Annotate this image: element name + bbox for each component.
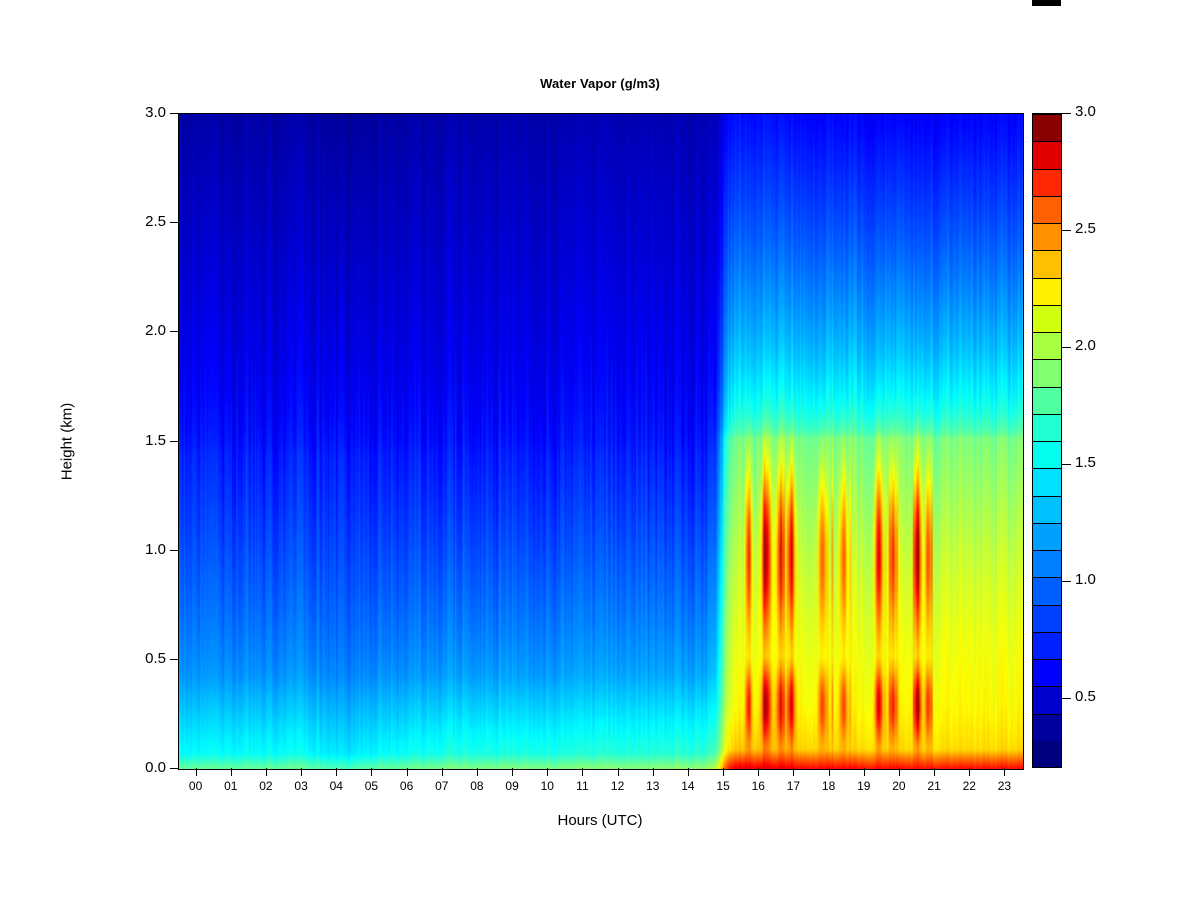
x-tick-mark bbox=[899, 768, 900, 776]
page-title: Water Vapor (g/m3) bbox=[178, 76, 1022, 91]
x-tick-mark bbox=[196, 768, 197, 776]
x-tick-mark bbox=[407, 768, 408, 776]
colorbar-tick-label: 1.5 bbox=[1075, 454, 1096, 471]
y-tick-mark bbox=[170, 550, 178, 551]
x-tick-label: 02 bbox=[252, 779, 280, 793]
colorbar-tick-mark bbox=[1062, 230, 1071, 231]
x-tick-label: 19 bbox=[850, 779, 878, 793]
x-tick-mark bbox=[969, 768, 970, 776]
x-tick-label: 11 bbox=[568, 779, 596, 793]
x-tick-label: 05 bbox=[357, 779, 385, 793]
heatmap-canvas bbox=[179, 114, 1023, 769]
x-tick-mark bbox=[758, 768, 759, 776]
x-axis-ticks: 0001020304050607080910111213141516171819… bbox=[178, 768, 1022, 808]
colorbar-segment bbox=[1033, 741, 1061, 767]
x-tick-mark bbox=[231, 768, 232, 776]
colorbar-segment bbox=[1033, 496, 1061, 523]
clipped-colorbar-artifact bbox=[1032, 0, 1061, 6]
y-tick-label: 3.0 bbox=[145, 106, 166, 120]
x-tick-mark bbox=[266, 768, 267, 776]
colorbar-segment bbox=[1033, 196, 1061, 223]
colorbar-segment bbox=[1033, 523, 1061, 550]
x-tick-mark bbox=[864, 768, 865, 776]
heatmap-plot-area bbox=[178, 113, 1024, 770]
y-tick-mark bbox=[170, 222, 178, 223]
x-tick-label: 01 bbox=[217, 779, 245, 793]
x-tick-mark bbox=[336, 768, 337, 776]
y-axis-ticks: 0.00.51.01.52.02.53.0 bbox=[120, 113, 178, 768]
x-tick-mark bbox=[512, 768, 513, 776]
y-tick-label: 1.5 bbox=[145, 434, 166, 448]
x-tick-mark bbox=[829, 768, 830, 776]
colorbar-segment bbox=[1033, 605, 1061, 632]
colorbar-segment bbox=[1033, 250, 1061, 277]
colorbar-tick-mark bbox=[1062, 464, 1071, 465]
x-tick-label: 16 bbox=[744, 779, 772, 793]
x-tick-label: 23 bbox=[990, 779, 1018, 793]
colorbar-segment bbox=[1033, 659, 1061, 686]
x-tick-label: 07 bbox=[428, 779, 456, 793]
x-tick-mark bbox=[934, 768, 935, 776]
y-tick-mark bbox=[170, 659, 178, 660]
y-tick-mark bbox=[170, 113, 178, 114]
colorbar-segment bbox=[1033, 169, 1061, 196]
x-tick-label: 21 bbox=[920, 779, 948, 793]
x-tick-label: 17 bbox=[779, 779, 807, 793]
colorbar-segment bbox=[1033, 332, 1061, 359]
x-tick-label: 20 bbox=[885, 779, 913, 793]
x-tick-mark bbox=[582, 768, 583, 776]
x-tick-label: 10 bbox=[533, 779, 561, 793]
y-tick-label: 0.5 bbox=[145, 652, 166, 666]
y-tick-label: 1.0 bbox=[145, 543, 166, 557]
colorbar-segment bbox=[1033, 550, 1061, 577]
y-tick-mark bbox=[170, 331, 178, 332]
colorbar-segment bbox=[1033, 278, 1061, 305]
colorbar-gradient bbox=[1032, 113, 1062, 768]
colorbar: 0.51.01.52.02.53.0 bbox=[1032, 113, 1062, 768]
colorbar-segment bbox=[1033, 441, 1061, 468]
colorbar-segment bbox=[1033, 414, 1061, 441]
colorbar-tick-label: 2.0 bbox=[1075, 337, 1096, 354]
colorbar-segment bbox=[1033, 223, 1061, 250]
y-tick-mark bbox=[170, 441, 178, 442]
x-tick-label: 22 bbox=[955, 779, 983, 793]
colorbar-segment bbox=[1033, 686, 1061, 713]
x-tick-label: 04 bbox=[322, 779, 350, 793]
y-tick-label: 0.0 bbox=[145, 761, 166, 775]
x-tick-mark bbox=[1004, 768, 1005, 776]
x-tick-mark bbox=[301, 768, 302, 776]
colorbar-ticks: 0.51.01.52.02.53.0 bbox=[1062, 113, 1132, 768]
colorbar-tick-label: 2.5 bbox=[1075, 220, 1096, 237]
x-tick-label: 08 bbox=[463, 779, 491, 793]
x-tick-mark bbox=[547, 768, 548, 776]
y-tick-mark bbox=[170, 768, 178, 769]
y-tick-label: 2.5 bbox=[145, 215, 166, 229]
x-tick-mark bbox=[653, 768, 654, 776]
x-tick-label: 06 bbox=[393, 779, 421, 793]
colorbar-tick-mark bbox=[1062, 581, 1071, 582]
x-tick-label: 12 bbox=[604, 779, 632, 793]
x-axis-label: Hours (UTC) bbox=[178, 812, 1022, 829]
y-axis-label: Height (km) bbox=[59, 362, 76, 522]
colorbar-segment bbox=[1033, 359, 1061, 386]
colorbar-tick-label: 0.5 bbox=[1075, 688, 1096, 705]
colorbar-segment bbox=[1033, 632, 1061, 659]
x-tick-label: 15 bbox=[709, 779, 737, 793]
x-tick-mark bbox=[723, 768, 724, 776]
colorbar-segment bbox=[1033, 468, 1061, 495]
x-tick-mark bbox=[618, 768, 619, 776]
x-tick-label: 14 bbox=[674, 779, 702, 793]
colorbar-segment bbox=[1033, 714, 1061, 741]
x-tick-mark bbox=[442, 768, 443, 776]
x-tick-mark bbox=[793, 768, 794, 776]
colorbar-segment bbox=[1033, 114, 1061, 141]
colorbar-tick-label: 3.0 bbox=[1075, 103, 1096, 120]
x-tick-label: 09 bbox=[498, 779, 526, 793]
colorbar-segment bbox=[1033, 577, 1061, 604]
x-tick-mark bbox=[477, 768, 478, 776]
x-tick-label: 03 bbox=[287, 779, 315, 793]
colorbar-tick-mark bbox=[1062, 347, 1071, 348]
colorbar-segment bbox=[1033, 141, 1061, 168]
x-tick-label: 13 bbox=[639, 779, 667, 793]
x-tick-mark bbox=[688, 768, 689, 776]
water-vapor-figure: Water Vapor (g/m3) 0.00.51.01.52.02.53.0… bbox=[0, 0, 1200, 900]
colorbar-tick-mark bbox=[1062, 113, 1071, 114]
x-tick-label: 18 bbox=[815, 779, 843, 793]
y-tick-label: 2.0 bbox=[145, 324, 166, 338]
colorbar-tick-mark bbox=[1062, 698, 1071, 699]
x-tick-label: 00 bbox=[182, 779, 210, 793]
x-tick-mark bbox=[371, 768, 372, 776]
colorbar-segment bbox=[1033, 387, 1061, 414]
colorbar-tick-label: 1.0 bbox=[1075, 571, 1096, 588]
colorbar-segment bbox=[1033, 305, 1061, 332]
